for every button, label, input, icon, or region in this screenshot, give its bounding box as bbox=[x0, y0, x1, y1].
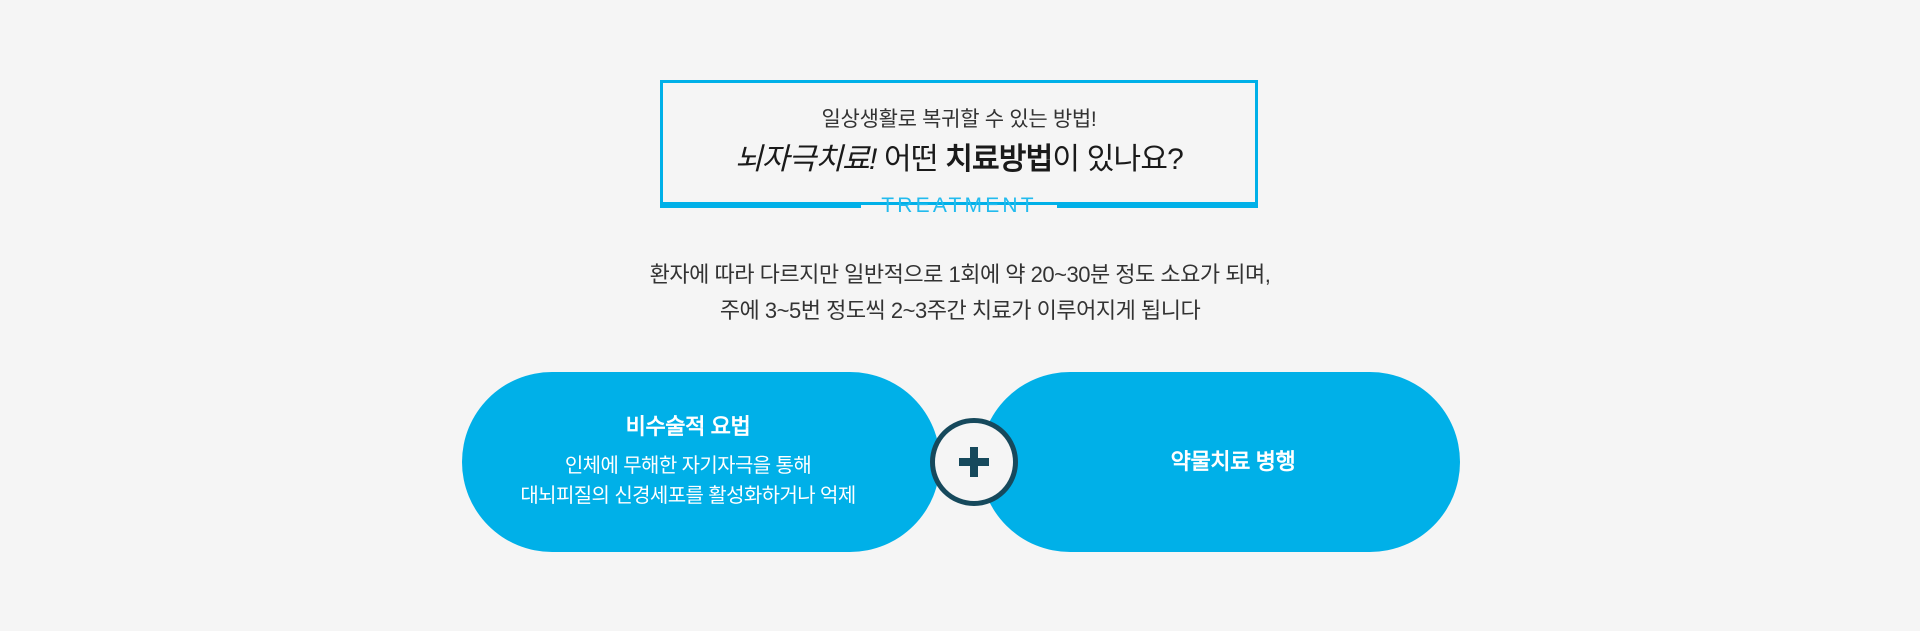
pill-left-title: 비수술적 요법 bbox=[626, 413, 751, 442]
pill-left-body-line-1: 인체에 무해한 자기자극을 통해 bbox=[520, 451, 855, 481]
description-line-1: 환자에 따라 다르지만 일반적으로 1회에 약 20~30분 정도 소요가 되며… bbox=[0, 257, 1920, 293]
page-title: 뇌자극치료! 어떤 치료방법이 있나요? bbox=[735, 141, 1183, 179]
pill-left-body-line-2: 대뇌피질의 신경세포를 활성화하거나 억제 bbox=[520, 481, 855, 511]
description-line-2: 주에 3~5번 정도씩 2~3주간 치료가 이루어지게 됩니다 bbox=[0, 293, 1920, 329]
description-text: 환자에 따라 다르지만 일반적으로 1회에 약 20~30분 정도 소요가 되며… bbox=[0, 257, 1920, 330]
divider-rule-left bbox=[660, 205, 861, 208]
divider-rule-right bbox=[1057, 205, 1258, 208]
section-label: TREATMENT bbox=[881, 194, 1037, 218]
pill-right-title: 약물치료 병행 bbox=[1171, 448, 1296, 477]
pill-left-body: 인체에 무해한 자기자극을 통해 대뇌피질의 신경세포를 활성화하거나 억제 bbox=[520, 451, 855, 511]
plus-icon bbox=[930, 418, 1018, 506]
title-lead: 뇌자극치료! bbox=[735, 143, 877, 176]
title-box: 일상생활로 복귀할 수 있는 방법! 뇌자극치료! 어떤 치료방법이 있나요? bbox=[660, 80, 1258, 205]
treatment-infographic: 일상생활로 복귀할 수 있는 방법! 뇌자극치료! 어떤 치료방법이 있나요? … bbox=[0, 0, 1920, 631]
title-mid: 어떤 bbox=[877, 143, 946, 176]
title-subtitle: 일상생활로 복귀할 수 있는 방법! bbox=[822, 106, 1097, 133]
section-divider: TREATMENT bbox=[660, 193, 1258, 219]
pill-medication-combination: 약물치료 병행 bbox=[980, 372, 1460, 552]
title-tail: 이 있나요? bbox=[1052, 143, 1183, 176]
title-strong: 치료방법 bbox=[945, 143, 1052, 176]
pill-non-surgical-therapy: 비수술적 요법 인체에 무해한 자기자극을 통해 대뇌피질의 신경세포를 활성화… bbox=[462, 372, 940, 552]
